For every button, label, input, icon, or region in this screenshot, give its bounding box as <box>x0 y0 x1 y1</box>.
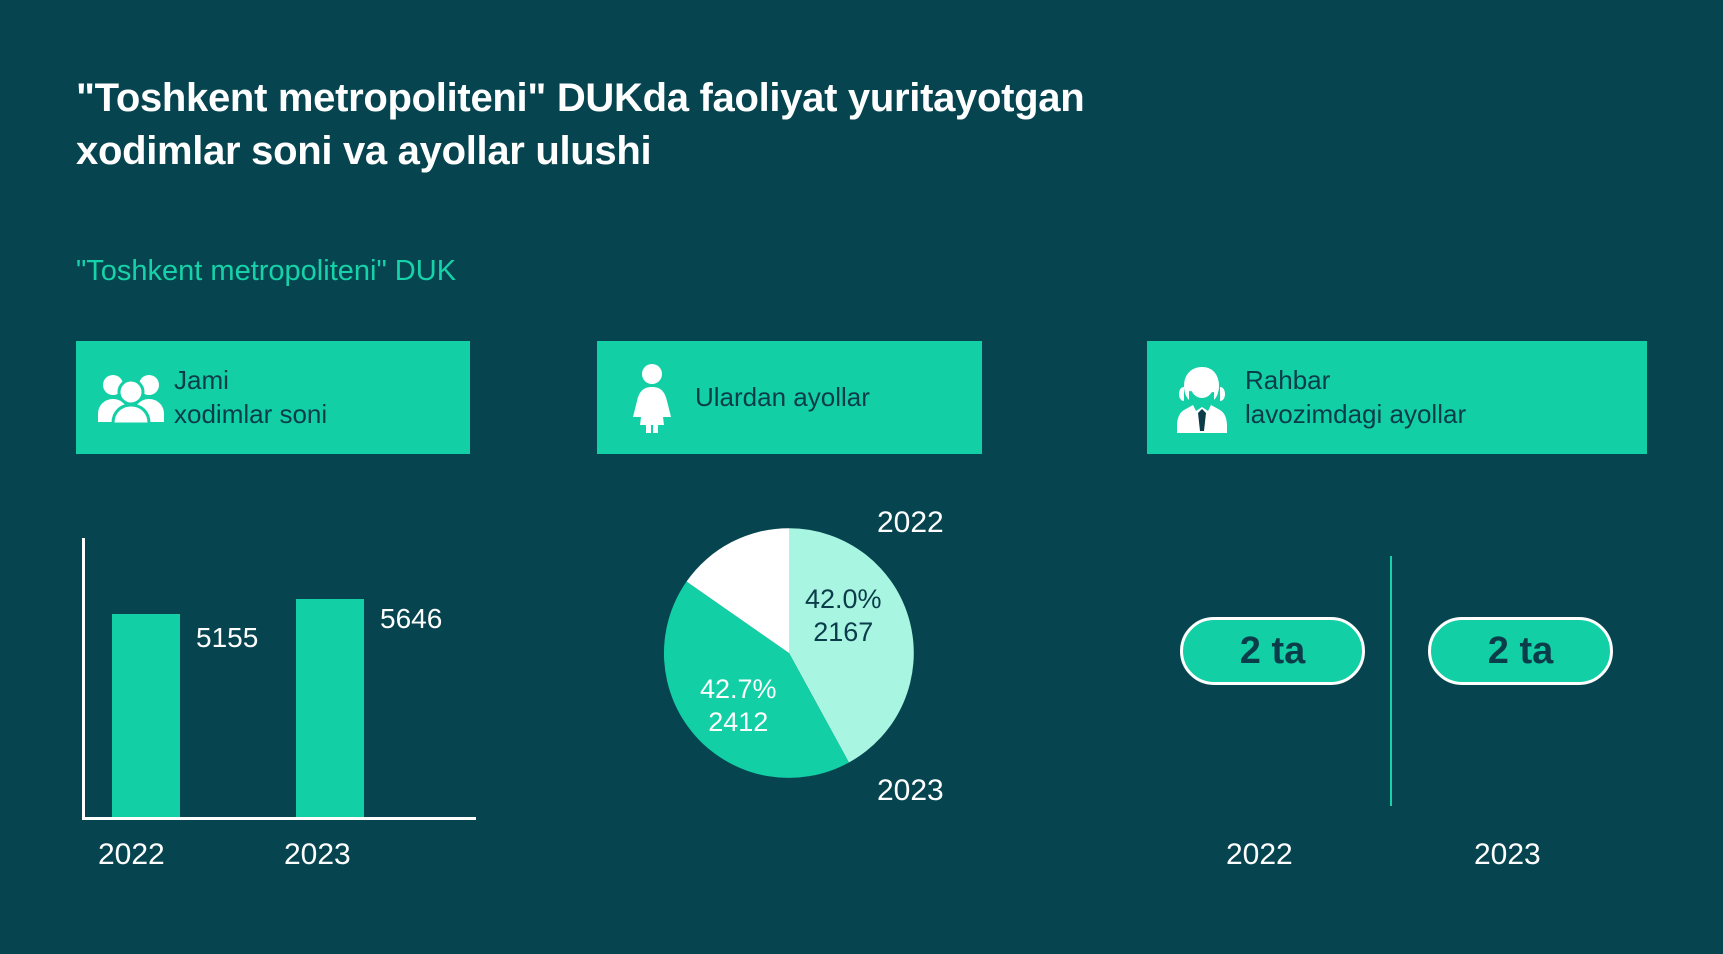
leader-year-label-2023: 2023 <box>1474 838 1541 872</box>
leader-panel-divider <box>1390 556 1392 806</box>
bar-year-label-2022: 2022 <box>98 838 165 872</box>
card-total-employees-label: Jami xodimlar soni <box>174 364 327 431</box>
bar-2022[interactable] <box>112 614 180 817</box>
page-subtitle: "Toshkent metropoliteni" DUK <box>76 255 456 288</box>
bar-chart-x-axis <box>82 817 476 820</box>
businesswoman-icon <box>1165 363 1239 433</box>
pie-slice-annotation-2023: 42.7% 2412 <box>700 673 777 739</box>
leader-count-badge-2022[interactable]: 2 ta <box>1180 617 1365 685</box>
infographic-page: "Toshkent metropoliteni" DUKda faoliyat … <box>0 0 1723 954</box>
bar-year-label-2023: 2023 <box>284 838 351 872</box>
woman-figure-icon <box>615 363 689 433</box>
pie-value-2022: 2167 <box>805 616 882 649</box>
bar-2023[interactable] <box>296 599 364 817</box>
pie-year-label-2023: 2023 <box>877 774 944 808</box>
card-total-employees[interactable]: Jami xodimlar soni <box>76 341 470 454</box>
pie-slice-annotation-2022: 42.0% 2167 <box>805 583 882 649</box>
leader-count-badge-2023[interactable]: 2 ta <box>1428 617 1613 685</box>
bar-value-label-2023: 5646 <box>380 603 442 635</box>
pie-value-2023: 2412 <box>700 706 777 739</box>
pie-chart-svg <box>659 523 919 783</box>
bar-chart-y-axis <box>82 538 85 820</box>
pie-percent-2023: 42.7% <box>700 673 777 706</box>
card-women-leaders-label: Rahbar lavozimdagi ayollar <box>1245 364 1466 431</box>
pie-percent-2022: 42.0% <box>805 583 882 616</box>
card-women-leaders[interactable]: Rahbar lavozimdagi ayollar <box>1147 341 1647 454</box>
leader-year-label-2022: 2022 <box>1226 838 1293 872</box>
page-title: "Toshkent metropoliteni" DUKda faoliyat … <box>76 72 1156 178</box>
bar-chart-total-employees: 5155 5646 <box>76 530 476 820</box>
card-women[interactable]: Ulardan ayollar <box>597 341 982 454</box>
pie-year-label-2022: 2022 <box>877 506 944 540</box>
card-women-label: Ulardan ayollar <box>695 381 870 414</box>
group-people-icon <box>94 372 168 424</box>
pie-chart-women-share <box>659 523 919 783</box>
bar-value-label-2022: 5155 <box>196 622 258 654</box>
